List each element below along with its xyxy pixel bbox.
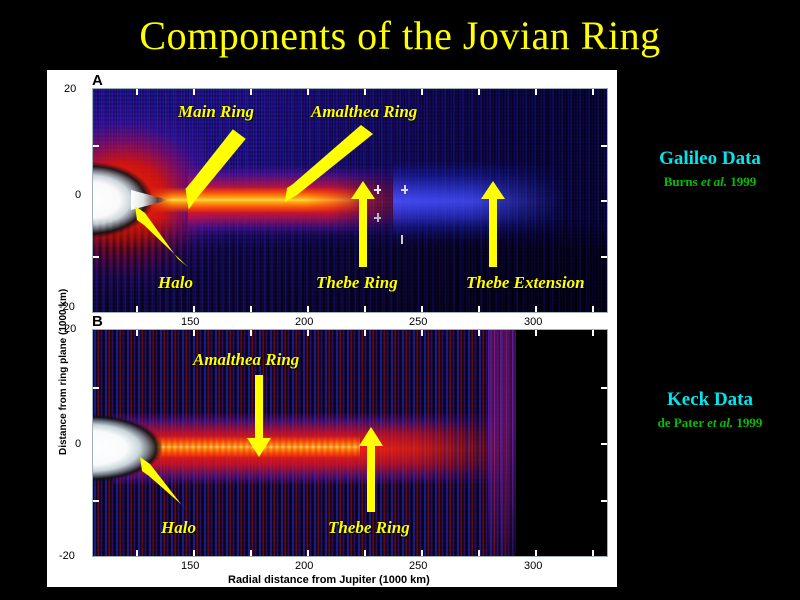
panel-a-letter: A: [92, 72, 103, 89]
panel-a-ytick-0: 0: [75, 189, 81, 201]
panel-b-xtick-250: 250: [409, 560, 427, 572]
arrow-thebe-ring-b: [93, 330, 607, 556]
arrow-thebe-extension: [93, 89, 607, 312]
caption-keck: Keck Data de Pater et al. 1999: [620, 389, 800, 431]
caption-galileo-year: 1999: [727, 174, 756, 189]
caption-keck-reference: de Pater et al. 1999: [620, 415, 800, 431]
caption-galileo-etal: et al.: [701, 174, 727, 189]
caption-galileo-author: Burns: [664, 174, 701, 189]
caption-keck-year: 1999: [733, 415, 762, 430]
panel-b-letter: B: [92, 313, 103, 330]
page-title: Components of the Jovian Ring: [0, 12, 800, 60]
x-axis-label: Radial distance from Jupiter (1000 km): [228, 574, 430, 586]
panel-a-xtick-300: 300: [524, 316, 542, 328]
panel-b-ytick-20: 20: [64, 323, 76, 335]
panel-a-ytick--20: -20: [59, 301, 75, 313]
figure-area: Distance from ring plane (1000 km) A 20 …: [47, 70, 617, 587]
caption-galileo-title: Galileo Data: [620, 148, 800, 170]
caption-galileo-reference: Burns et al. 1999: [620, 174, 800, 190]
caption-keck-author: de Pater: [658, 415, 708, 430]
panel-a-ytick-20: 20: [64, 83, 76, 95]
caption-keck-title: Keck Data: [620, 389, 800, 411]
panel-b-xtick-150: 150: [181, 560, 199, 572]
panel-a-xtick-250: 250: [409, 316, 427, 328]
y-axis-label: Distance from ring plane (1000 km): [58, 289, 69, 455]
panel-b-ytick--20: -20: [59, 550, 75, 562]
caption-galileo: Galileo Data Burns et al. 1999: [620, 148, 800, 190]
panel-b-heatmap: Amalthea Ring Halo Thebe Ring: [92, 329, 608, 557]
panel-a-xtick-150: 150: [181, 316, 199, 328]
panel-b-xtick-300: 300: [524, 560, 542, 572]
panel-b-xtick-200: 200: [295, 560, 313, 572]
panel-a-xtick-200: 200: [295, 316, 313, 328]
caption-keck-etal: et al.: [707, 415, 733, 430]
panel-b-ytick-0: 0: [75, 438, 81, 450]
panel-a-heatmap: Main Ring Amalthea Ring Halo Thebe Ring …: [92, 88, 608, 313]
